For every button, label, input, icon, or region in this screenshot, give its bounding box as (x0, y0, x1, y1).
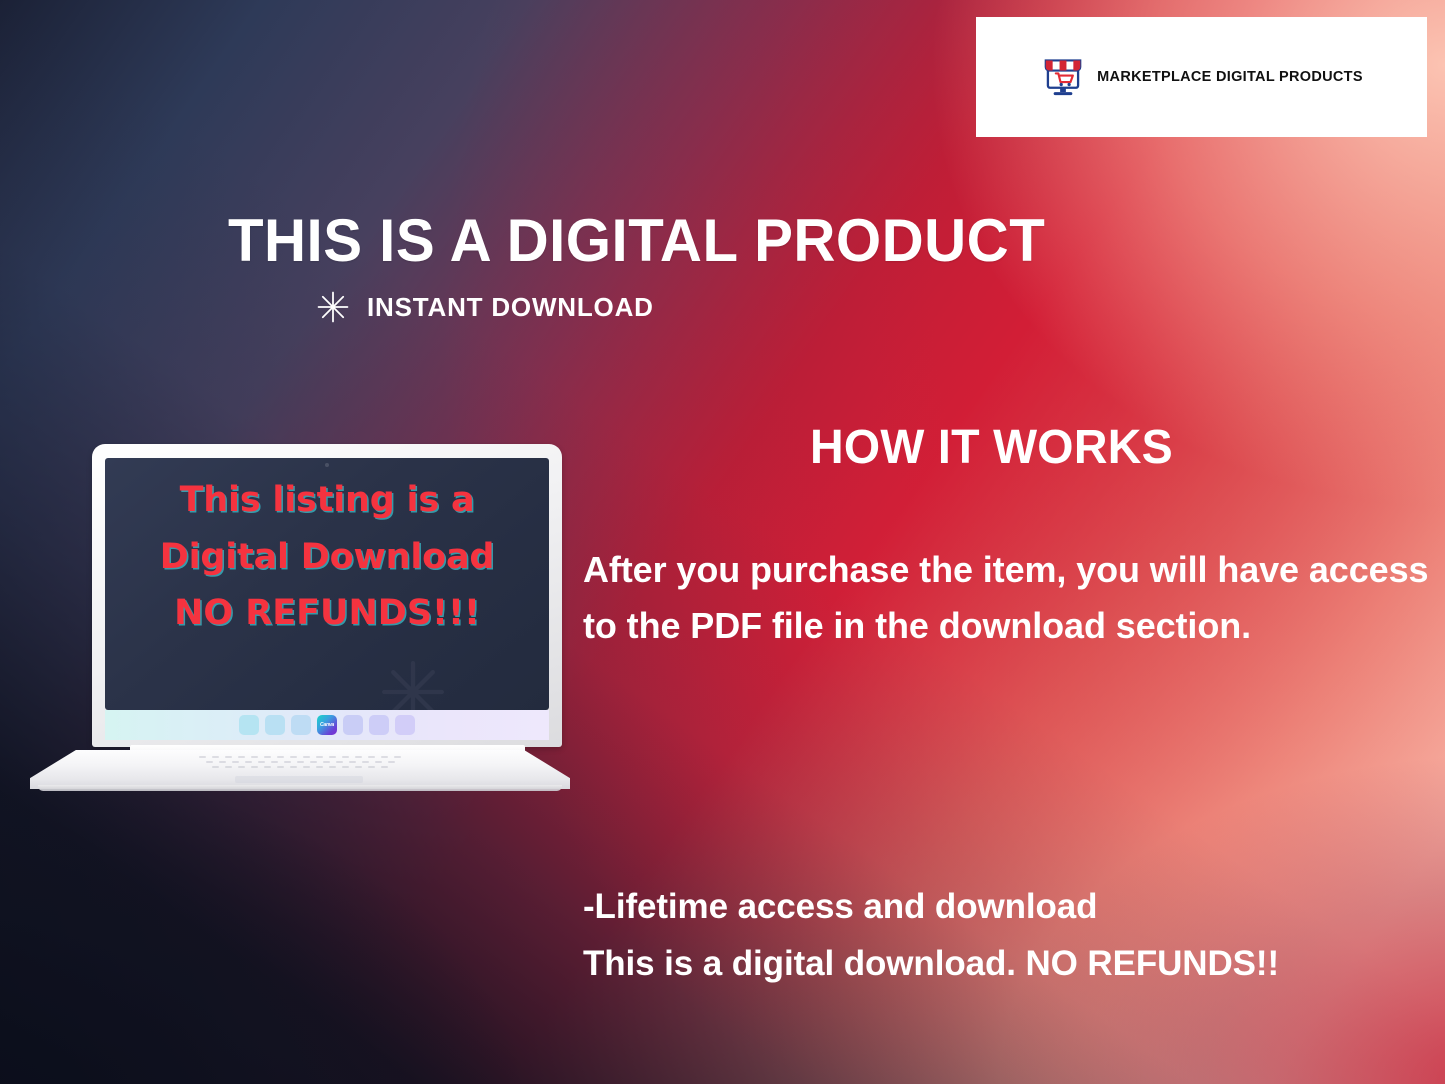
screen-message: This listing is a Digital Download NO RE… (105, 472, 549, 642)
laptop-keyboard (86, 754, 514, 774)
laptop-base-lip (38, 785, 562, 791)
laptop-lid: This listing is a Digital Download NO RE… (92, 444, 562, 747)
dock-tile-6[interactable] (369, 715, 389, 735)
brand-logo-banner: MARKETPLACE DIGITAL PRODUCTS (976, 17, 1427, 137)
dock-tile-1[interactable] (239, 715, 259, 735)
laptop-trackpad (235, 776, 363, 783)
footer-terms: -Lifetime access and download This is a … (583, 878, 1413, 992)
how-it-works-title: HOW IT WORKS (810, 420, 1173, 475)
laptop-screen: This listing is a Digital Download NO RE… (105, 458, 549, 710)
how-it-works-body: After you purchase the item, you will ha… (583, 542, 1433, 654)
footer-line-1: -Lifetime access and download (583, 878, 1413, 935)
dock-tile-5[interactable] (343, 715, 363, 735)
dock-tile-3[interactable] (291, 715, 311, 735)
screen-dock: Canva (105, 710, 549, 740)
footer-line-2: This is a digital download. NO REFUNDS!! (583, 935, 1413, 992)
instant-download-badge: INSTANT DOWNLOAD (316, 290, 654, 324)
instant-download-label: INSTANT DOWNLOAD (367, 292, 654, 323)
page-title: THIS IS A DIGITAL PRODUCT (228, 206, 1045, 275)
screen-message-line-3: NO REFUNDS!!! (105, 585, 549, 642)
marketplace-shop-icon (1040, 54, 1086, 100)
promo-graphic-canvas: MARKETPLACE DIGITAL PRODUCTS THIS IS A D… (0, 0, 1445, 1084)
dock-tile-2[interactable] (265, 715, 285, 735)
screen-message-line-2: Digital Download (105, 529, 549, 586)
laptop-mockup: This listing is a Digital Download NO RE… (30, 444, 570, 800)
canva-label: Canva (320, 723, 334, 728)
dock-tile-canva[interactable]: Canva (317, 715, 337, 735)
brand-logo-text: MARKETPLACE DIGITAL PRODUCTS (1097, 69, 1363, 85)
sparkle-icon (316, 290, 350, 324)
dock-tile-7[interactable] (395, 715, 415, 735)
sparkle-watermark-icon (377, 656, 449, 710)
webcam-dot (325, 463, 329, 467)
screen-message-line-1: This listing is a (105, 472, 549, 529)
